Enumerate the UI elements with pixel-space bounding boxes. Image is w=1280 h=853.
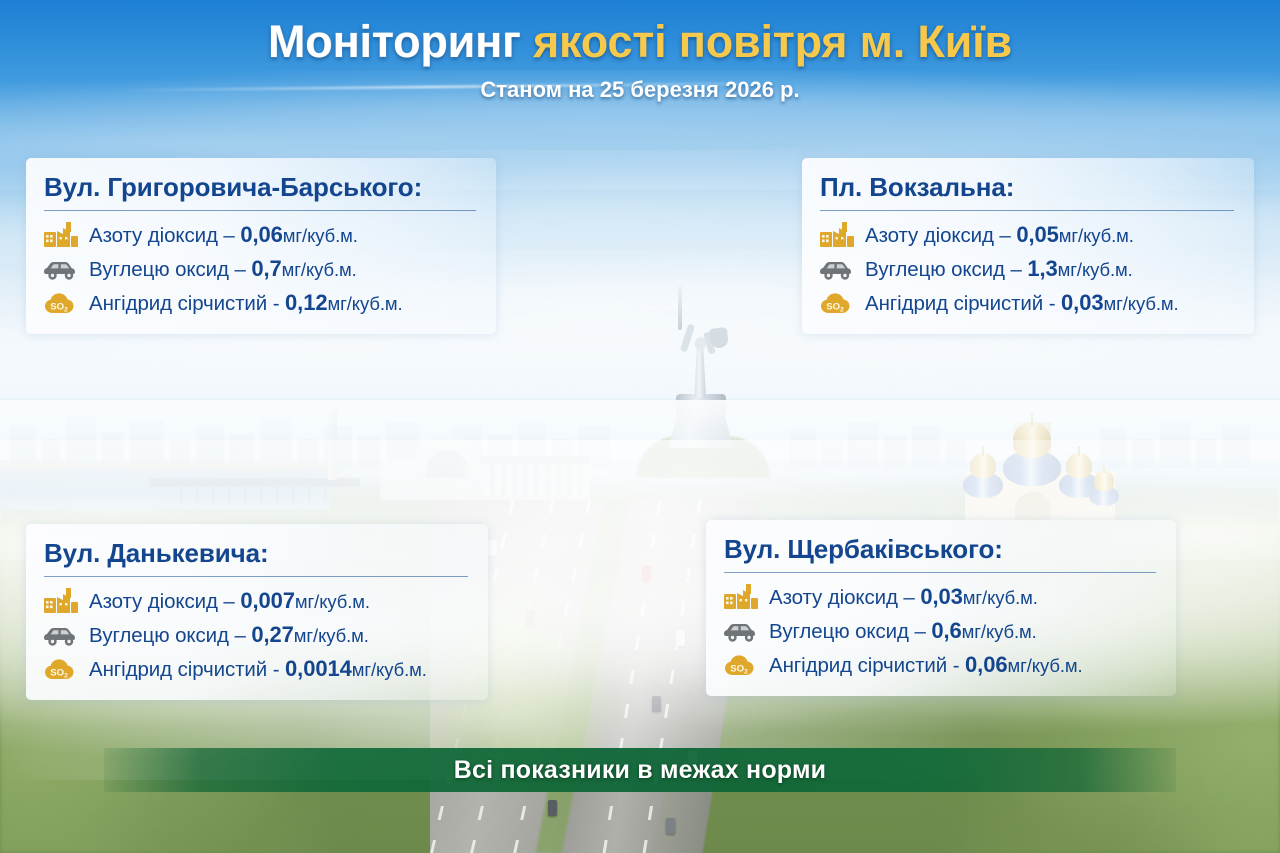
- factory-icon: [724, 584, 758, 610]
- reading-row: Вуглецю оксид – 0,6мг/куб.м.: [724, 616, 1156, 646]
- reading-value: 0,12: [285, 290, 327, 315]
- reading-row: Вуглецю оксид – 0,7мг/куб.м.: [44, 254, 476, 284]
- reading-row: SO2 Ангідрид сірчистий - 0,03мг/куб.м.: [820, 288, 1234, 318]
- status-banner-text: Всі показники в межах норми: [454, 756, 826, 785]
- page-subtitle-date: Станом на 25 березня 2026 р.: [0, 77, 1280, 103]
- reading-value: 0,27: [251, 622, 293, 647]
- reading-label: Вуглецю оксид –: [769, 620, 931, 643]
- reading-text: Ангідрид сірчистий - 0,12мг/куб.м.: [89, 290, 403, 316]
- reading-text: Вуглецю оксид – 0,7мг/куб.м.: [89, 256, 357, 282]
- station-title: Вул. Григоровича-Барського:: [44, 172, 476, 211]
- motherland-monument: [628, 318, 778, 478]
- reading-text: Ангідрид сірчистий - 0,06мг/куб.м.: [769, 652, 1083, 678]
- reading-unit: мг/куб.м.: [1058, 259, 1133, 280]
- page-header: Моніторинг якості повітря м. Київ Станом…: [0, 0, 1280, 146]
- car-icon: [724, 618, 758, 644]
- reading-value: 0,03: [1061, 290, 1103, 315]
- reading-row: Азоту діоксид – 0,03мг/куб.м.: [724, 582, 1156, 612]
- station-title: Вул. Щербаківського:: [724, 534, 1156, 573]
- factory-icon: [44, 222, 78, 248]
- reading-unit: мг/куб.м.: [283, 225, 358, 246]
- factory-icon: [820, 222, 854, 248]
- reading-unit: мг/куб.м.: [962, 621, 1037, 642]
- reading-row: SO2 Ангідрид сірчистий - 0,0014мг/куб.м.: [44, 654, 468, 684]
- station-card-vokzalna[interactable]: Пл. Вокзальна: Азоту діоксид – 0,05мг/ку…: [802, 158, 1254, 334]
- reading-value: 0,007: [240, 588, 295, 613]
- reading-label: Азоту діоксид –: [89, 224, 240, 247]
- reading-row: SO2 Ангідрид сірчистий - 0,06мг/куб.м.: [724, 650, 1156, 680]
- reading-label: Ангідрид сірчистий -: [865, 292, 1061, 315]
- so2-cloud-icon: SO2: [724, 652, 758, 678]
- page-title-gold: якості повітря м. Київ: [533, 16, 1012, 67]
- so2-cloud-icon: SO2: [820, 290, 854, 316]
- reading-unit: мг/куб.м.: [1103, 293, 1178, 314]
- page-title-white: Моніторинг: [268, 16, 533, 67]
- station-title: Вул. Данькевича:: [44, 538, 468, 577]
- so2-cloud-icon: SO2: [44, 290, 78, 316]
- reading-text: Ангідрид сірчистий - 0,0014мг/куб.м.: [89, 656, 427, 682]
- reading-text: Азоту діоксид – 0,05мг/куб.м.: [865, 222, 1134, 248]
- reading-label: Ангідрид сірчистий -: [89, 658, 285, 681]
- page-title: Моніторинг якості повітря м. Київ: [0, 18, 1280, 65]
- reading-unit: мг/куб.м.: [963, 587, 1038, 608]
- station-title: Пл. Вокзальна:: [820, 172, 1234, 211]
- reading-label: Вуглецю оксид –: [89, 258, 251, 281]
- reading-label: Ангідрид сірчистий -: [769, 654, 965, 677]
- reading-row: Азоту діоксид – 0,05мг/куб.м.: [820, 220, 1234, 250]
- reading-row: SO2 Ангідрид сірчистий - 0,12мг/куб.м.: [44, 288, 476, 318]
- status-banner: Всі показники в межах норми: [104, 748, 1176, 792]
- station-card-shcherbakivskoho[interactable]: Вул. Щербаківського: Азоту діоксид – 0,0…: [706, 520, 1176, 696]
- car-icon: [820, 256, 854, 282]
- reading-unit: мг/куб.м.: [295, 591, 370, 612]
- reading-text: Азоту діоксид – 0,03мг/куб.м.: [769, 584, 1038, 610]
- car-icon: [44, 622, 78, 648]
- reading-text: Вуглецю оксид – 1,3мг/куб.м.: [865, 256, 1133, 282]
- reading-value: 0,05: [1016, 222, 1058, 247]
- reading-value: 1,3: [1027, 256, 1057, 281]
- reading-value: 0,06: [240, 222, 282, 247]
- reading-unit: мг/куб.м.: [352, 659, 427, 680]
- reading-text: Азоту діоксид – 0,06мг/куб.м.: [89, 222, 358, 248]
- station-card-dankevycha[interactable]: Вул. Данькевича: Азоту діоксид – 0,007мг…: [26, 524, 488, 700]
- reading-unit: мг/куб.м.: [1007, 655, 1082, 676]
- station-card-hryhorovycha-barskoho[interactable]: Вул. Григоровича-Барського: Азоту діокси…: [26, 158, 496, 334]
- reading-unit: мг/куб.м.: [282, 259, 357, 280]
- reading-text: Ангідрид сірчистий - 0,03мг/куб.м.: [865, 290, 1179, 316]
- factory-icon: [44, 588, 78, 614]
- reading-value: 0,03: [920, 584, 962, 609]
- reading-label: Азоту діоксид –: [769, 586, 920, 609]
- reading-unit: мг/куб.м.: [294, 625, 369, 646]
- reading-row: Азоту діоксид – 0,06мг/куб.м.: [44, 220, 476, 250]
- so2-cloud-icon: SO2: [44, 656, 78, 682]
- reading-value: 0,0014: [285, 656, 352, 681]
- reading-unit: мг/куб.м.: [327, 293, 402, 314]
- reading-text: Азоту діоксид – 0,007мг/куб.м.: [89, 588, 370, 614]
- reading-text: Вуглецю оксид – 0,27мг/куб.м.: [89, 622, 369, 648]
- reading-label: Вуглецю оксид –: [89, 624, 251, 647]
- car-icon: [44, 256, 78, 282]
- reading-row: Азоту діоксид – 0,007мг/куб.м.: [44, 586, 468, 616]
- reading-label: Вуглецю оксид –: [865, 258, 1027, 281]
- reading-label: Азоту діоксид –: [865, 224, 1016, 247]
- reading-value: 0,6: [931, 618, 961, 643]
- reading-text: Вуглецю оксид – 0,6мг/куб.м.: [769, 618, 1037, 644]
- reading-value: 0,7: [251, 256, 281, 281]
- reading-label: Ангідрид сірчистий -: [89, 292, 285, 315]
- reading-row: Вуглецю оксид – 1,3мг/куб.м.: [820, 254, 1234, 284]
- railway-station-building: [380, 430, 590, 500]
- reading-label: Азоту діоксид –: [89, 590, 240, 613]
- reading-row: Вуглецю оксид – 0,27мг/куб.м.: [44, 620, 468, 650]
- reading-value: 0,06: [965, 652, 1007, 677]
- reading-unit: мг/куб.м.: [1059, 225, 1134, 246]
